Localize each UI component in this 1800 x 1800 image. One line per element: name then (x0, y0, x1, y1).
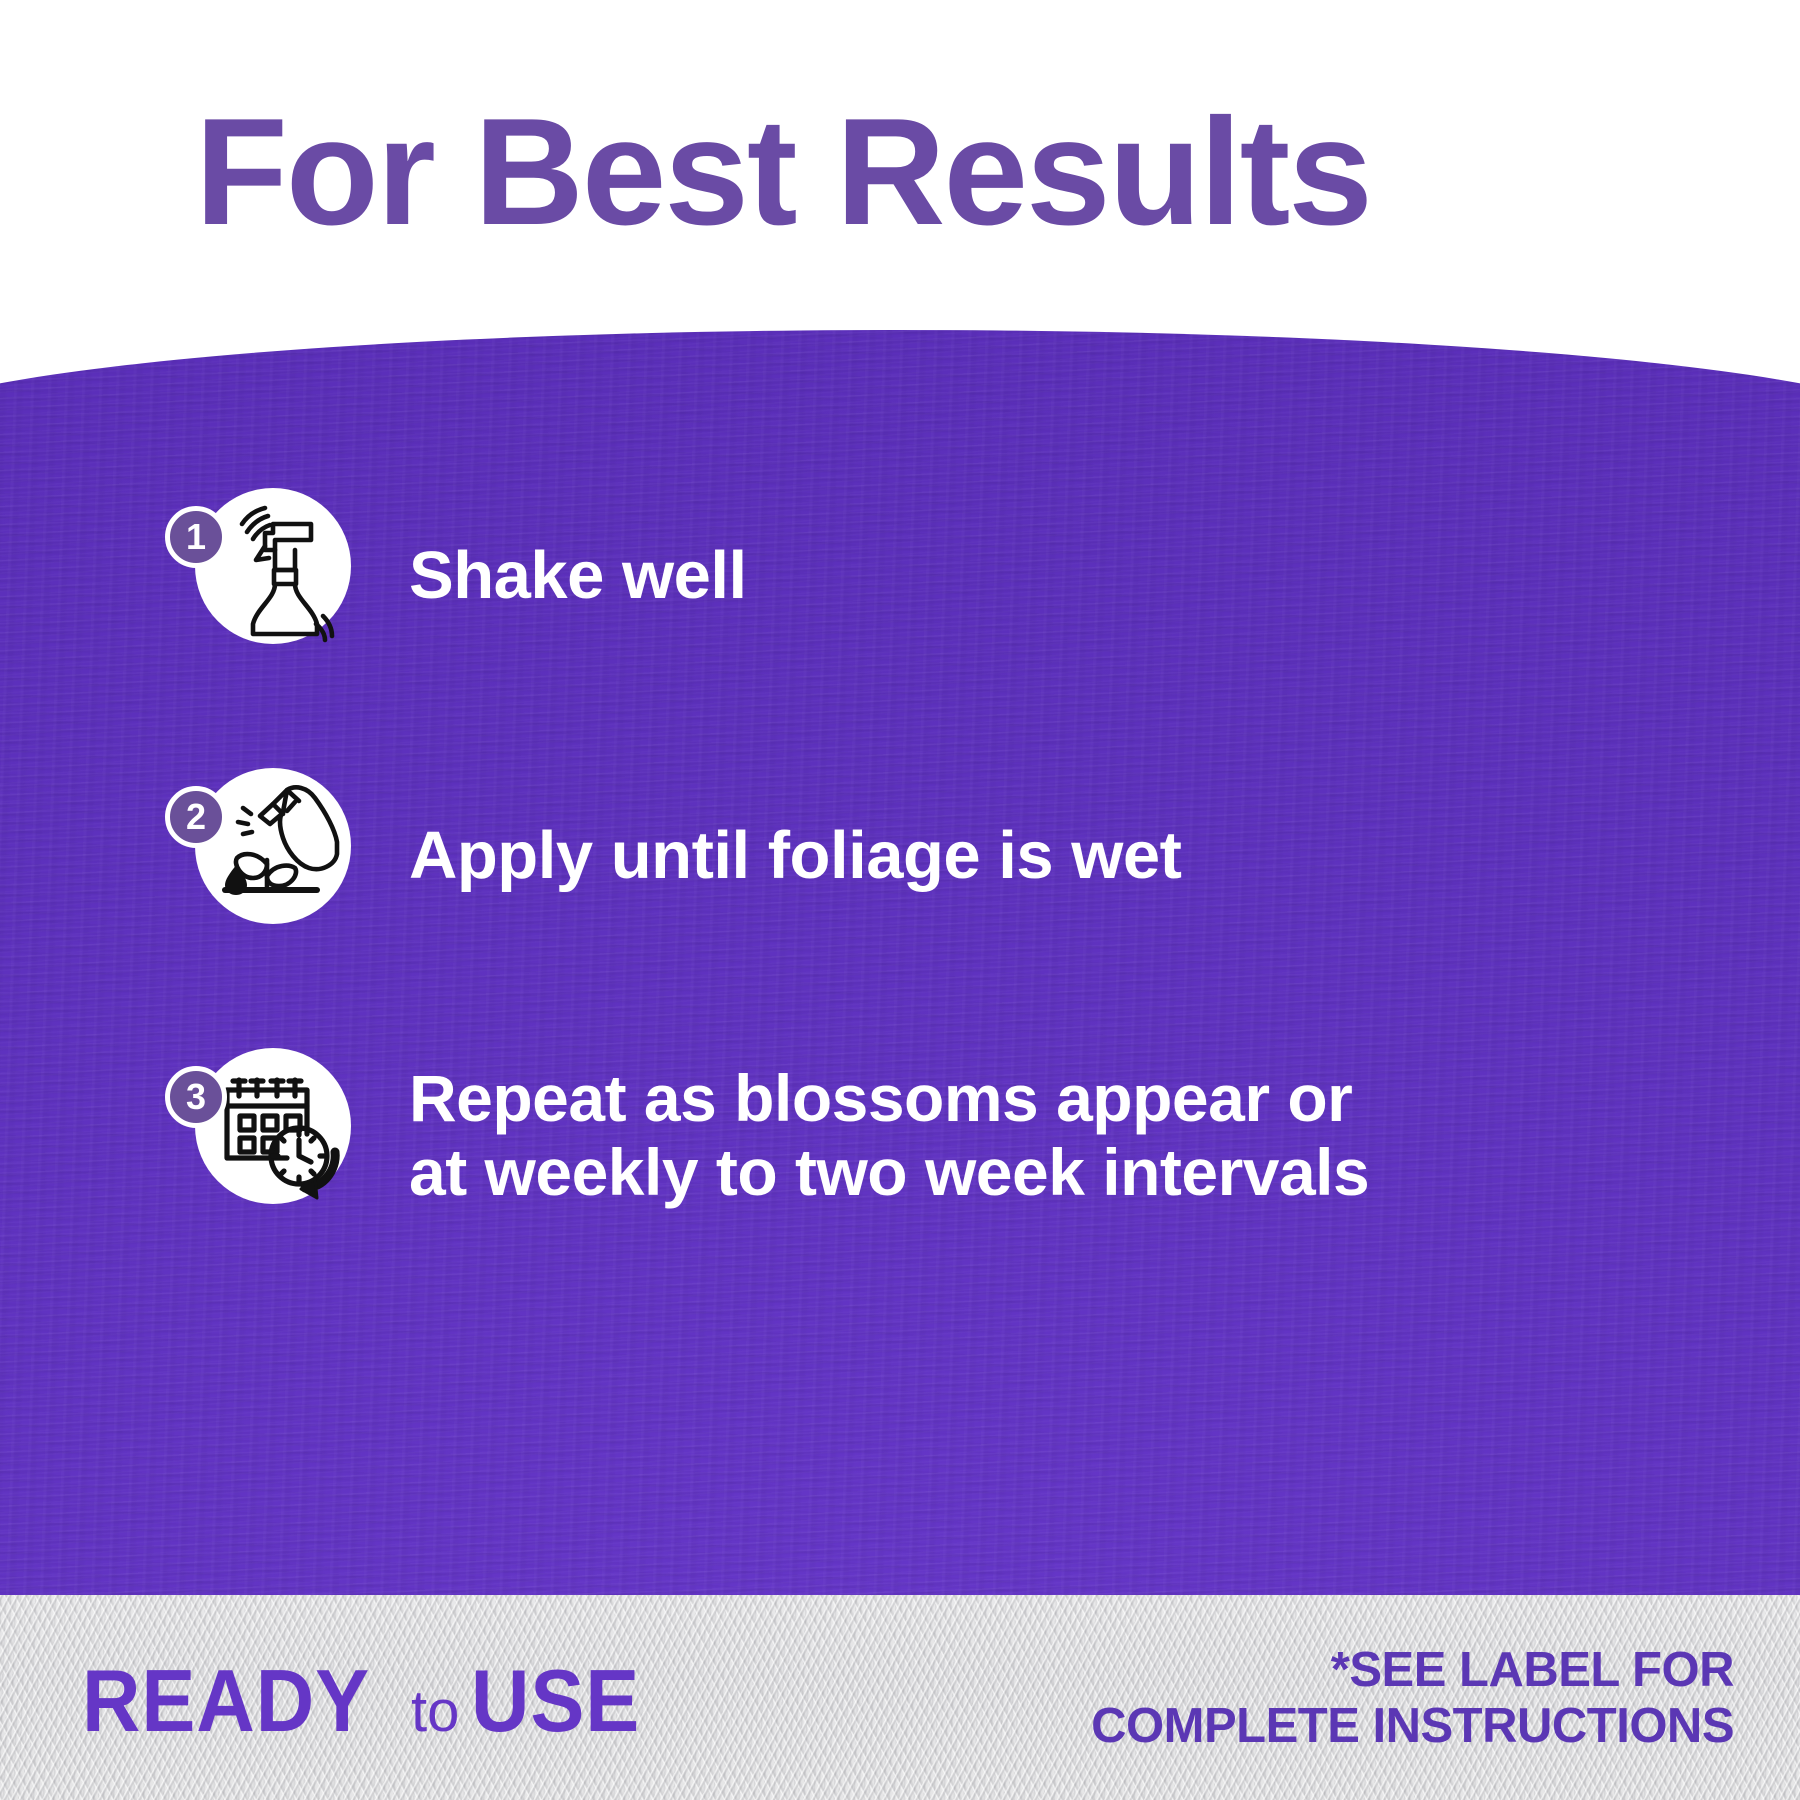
footer-band: READY to USE *SEE LABEL FOR COMPLETE INS… (0, 1595, 1800, 1800)
step-number-badge: 3 (165, 1066, 227, 1128)
list-item: 2 Apply until foliage is wet (165, 758, 1181, 954)
step-label: Repeat as blossoms appear or at weekly t… (409, 1062, 1369, 1210)
promo-card: For Best Results (0, 0, 1800, 1800)
step-label: Apply until foliage is wet (409, 820, 1181, 892)
ready-word: READY (82, 1657, 370, 1745)
list-item: 1 Shake well (165, 478, 747, 674)
header-band: For Best Results (0, 0, 1800, 300)
use-word: USE (471, 1657, 640, 1745)
to-word: to (411, 1683, 459, 1741)
step-icon-wrapper: 3 (165, 1038, 361, 1234)
page-title: For Best Results (195, 96, 1371, 248)
step-number-badge: 2 (165, 786, 227, 848)
disclaimer-text: *SEE LABEL FOR COMPLETE INSTRUCTIONS (1091, 1643, 1734, 1755)
step-number-badge: 1 (165, 506, 227, 568)
calendar-clock-repeat-icon (195, 1048, 351, 1204)
step-icon-wrapper: 1 (165, 478, 361, 674)
step-label: Shake well (409, 540, 747, 612)
spray-bottle-shake-icon (195, 488, 351, 644)
ready-to-use-lockup: READY to USE (82, 1657, 655, 1745)
list-item: 3 Repeat as blossoms appear or at weekly… (165, 1038, 1369, 1234)
spray-bottle-plant-icon (195, 768, 351, 924)
step-icon-wrapper: 2 (165, 758, 361, 954)
